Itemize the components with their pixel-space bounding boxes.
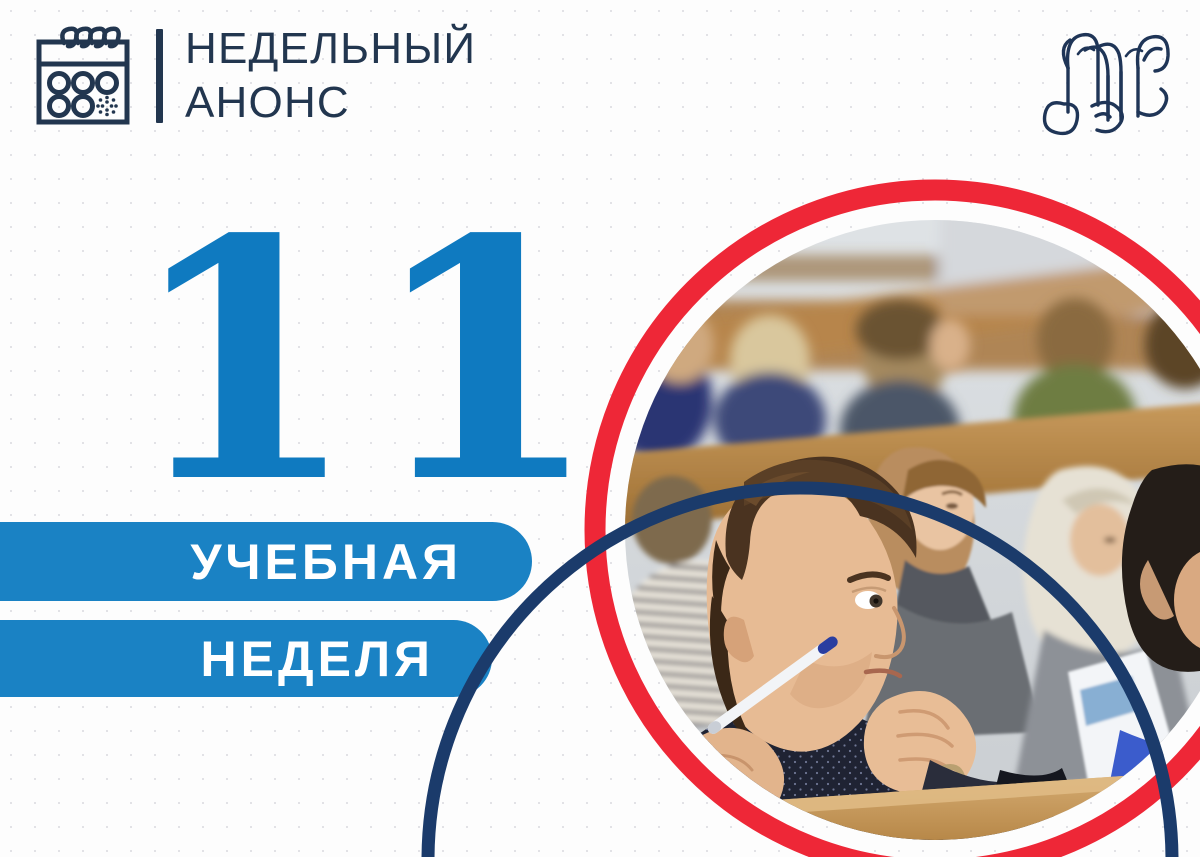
header-divider — [156, 29, 163, 123]
main-student — [610, 457, 1076, 857]
header-title-block: НЕДЕЛЬНЫЙ АНОНС — [185, 27, 476, 125]
poster-header: НЕДЕЛЬНЫЙ АНОНС — [28, 22, 476, 130]
lecture-hall-photo — [596, 200, 1200, 857]
header-title-line1: НЕДЕЛЬНЫЙ — [185, 27, 476, 71]
pill-nedelya: НЕДЕЛЯ — [0, 620, 492, 697]
calendar-icon — [28, 22, 138, 130]
pill-1-label: УЧЕБНАЯ — [190, 533, 462, 591]
poster-canvas: НЕДЕЛЬНЫЙ АНОНС 11 УЧЕБНАЯ НЕДЕЛЯ — [0, 0, 1200, 857]
pill-uchebnaya: УЧЕБНАЯ — [0, 522, 532, 601]
pill-2-label: НЕДЕЛЯ — [201, 630, 434, 688]
week-number: 11 — [128, 196, 611, 526]
header-title-line2: АНОНС — [185, 81, 476, 125]
red-ring — [595, 190, 1200, 857]
hse-monogram-logo — [1034, 20, 1176, 140]
